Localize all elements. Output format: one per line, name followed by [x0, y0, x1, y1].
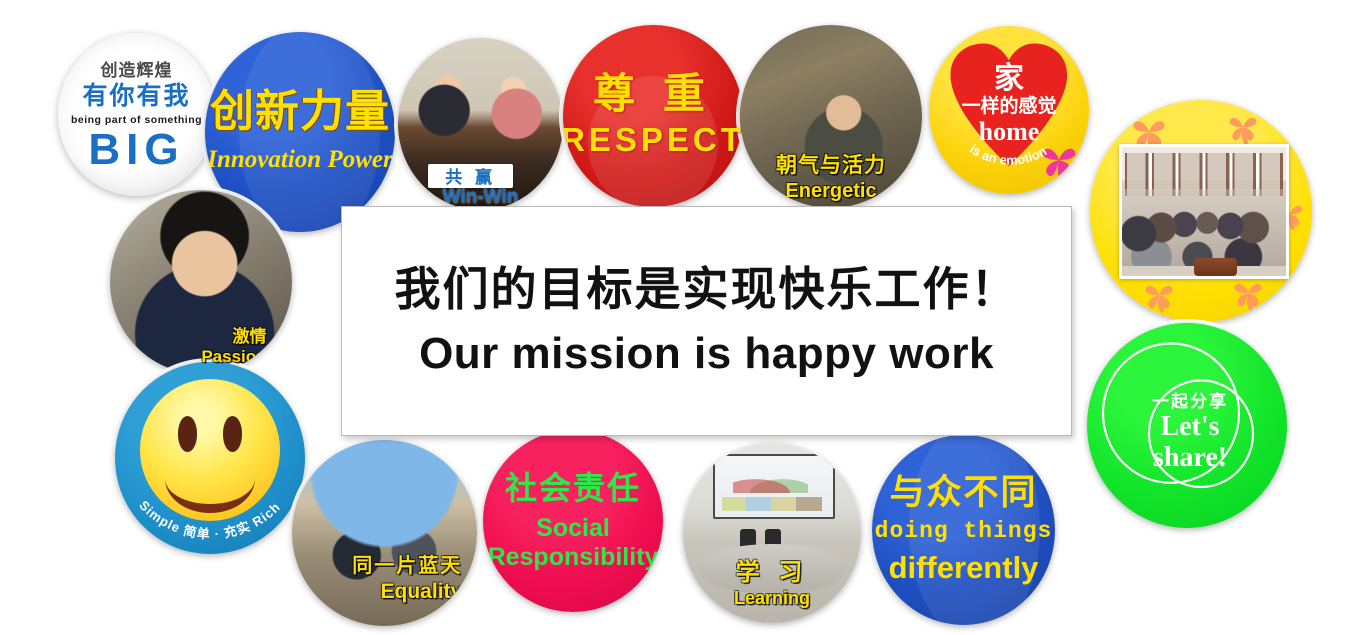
learning-labels: 学 习 Learning — [683, 552, 861, 609]
home-arc-text: is an emotion — [967, 141, 1049, 168]
learning-en: Learning — [683, 588, 861, 609]
simple-rich-arc-text: Simple 简单 · 充实 Rich — [136, 498, 283, 542]
badge-win-win[interactable]: 共 赢 Win-Win — [398, 38, 563, 210]
equality-labels: 同一片蓝天 Equality — [292, 549, 477, 604]
big-en-small: being part of something — [71, 114, 202, 126]
different-cn: 与众不同 — [889, 474, 1037, 513]
energetic-labels: 朝气与活力 Energetic — [740, 149, 922, 203]
flower-icon-bottom-left — [1139, 277, 1179, 315]
mission-banner: 我们的目标是实现快乐工作！ Our mission is happy work — [341, 206, 1072, 436]
passion-en: Passion — [110, 347, 267, 367]
energetic-cn: 朝气与活力 — [740, 149, 922, 179]
different-en-2: differently — [889, 550, 1039, 586]
innovation-cn: 创新力量 — [210, 90, 390, 134]
badge-passion[interactable]: 激情 Passion — [110, 190, 292, 374]
svg-text:Simple 简单 · 充实 Rich: Simple 简单 · 充实 Rich — [136, 498, 283, 542]
equality-en: Equality — [292, 580, 462, 604]
culture-values-poster: 创造辉煌 有你有我 being part of something BIG 创新… — [0, 0, 1366, 635]
social-en-2: Responsibility — [488, 543, 659, 572]
energetic-en: Energetic — [740, 180, 922, 203]
mission-line-cn: 我们的目标是实现快乐工作！ — [395, 263, 1019, 316]
badge-team-celebration-photo[interactable] — [1090, 100, 1312, 322]
social-en-1: Social — [536, 514, 610, 543]
people-group — [1122, 189, 1286, 266]
flower-icon-top-right — [1223, 109, 1263, 147]
mission-line-en: Our mission is happy work — [419, 329, 994, 379]
passion-cn: 激情 — [110, 322, 267, 347]
big-en-big: BIG — [88, 127, 184, 173]
badge-home-is-an-emotion[interactable]: 家 一样的感觉 home is an emotion — [929, 26, 1089, 194]
flower-icon-bottom-right — [1228, 275, 1268, 313]
share-en-2: share! — [1152, 443, 1228, 474]
badge-doing-things-differently[interactable]: 与众不同 doing things differently — [872, 435, 1055, 625]
innovation-en: Innovation Power — [207, 146, 392, 174]
bell-curve-chart — [733, 472, 808, 494]
badge-simple-and-rich[interactable]: Simple 简单 · 充实 Rich — [115, 362, 305, 554]
badge-energetic[interactable]: 朝气与活力 Energetic — [740, 25, 922, 208]
equality-cn: 同一片蓝天 — [292, 549, 462, 578]
simple-rich-arc-wrap: Simple 简单 · 充实 Rich — [115, 479, 305, 548]
win-win-plate: 共 赢 — [428, 164, 514, 188]
home-cn-top: 家 — [961, 64, 1056, 94]
big-cn-main: 有你有我 — [82, 83, 190, 111]
svg-text:is an emotion: is an emotion — [967, 141, 1049, 168]
badge-being-part-of-something-big[interactable]: 创造辉煌 有你有我 being part of something BIG — [58, 33, 215, 196]
badge-equality[interactable]: 同一片蓝天 Equality — [292, 440, 477, 626]
birthday-cake — [1194, 258, 1237, 276]
badge-respect[interactable]: 尊 重 RESPECT — [563, 25, 743, 207]
badge-social-responsibility[interactable]: 社会责任 Social Responsibility — [483, 430, 663, 612]
winwin-cn: 共 赢 — [445, 163, 496, 188]
share-cn: 一起分享 — [1152, 387, 1228, 412]
team-photo — [1119, 144, 1289, 279]
badge-lets-share[interactable]: 一起分享 Let's share! — [1087, 323, 1287, 528]
winwin-en-wrap: Win-Win — [398, 186, 563, 208]
social-cn: 社会责任 — [505, 471, 641, 506]
badge-learning[interactable]: 学 习 Learning — [683, 443, 861, 623]
respect-cn: 尊 重 — [593, 73, 713, 115]
respect-en: RESPECT — [563, 121, 743, 159]
winwin-en: Win-Win — [443, 186, 519, 207]
learning-cn: 学 习 — [683, 552, 861, 587]
home-arc-wrap: is an emotion — [929, 108, 1089, 177]
share-en-1: Let's — [1152, 412, 1228, 443]
different-en-1: doing things — [875, 518, 1053, 544]
chart-swatches — [722, 497, 822, 511]
big-cn-top: 创造辉煌 — [101, 56, 173, 81]
passion-labels: 激情 Passion — [110, 322, 292, 367]
